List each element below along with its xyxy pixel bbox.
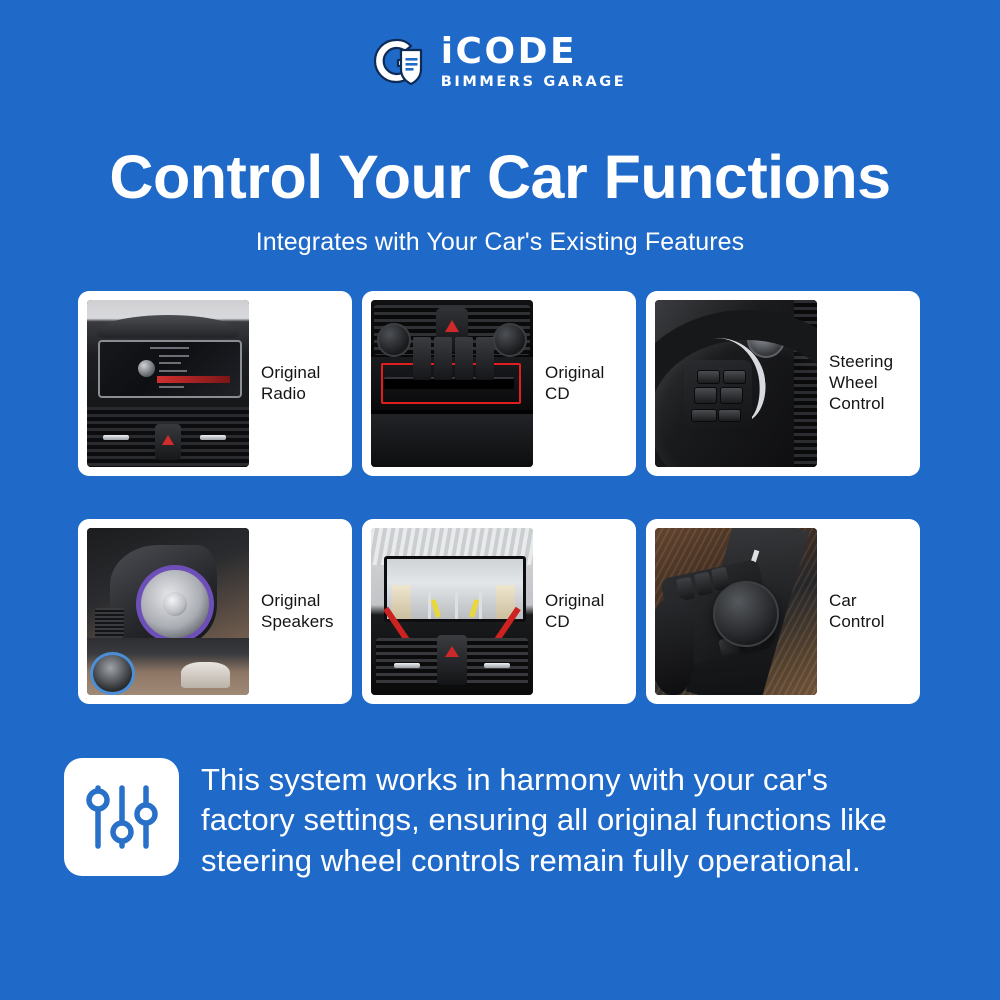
footer-description: This system works in harmony with your c… — [201, 758, 901, 881]
thumbnail-reverse-camera — [371, 528, 533, 695]
feature-card-original-radio[interactable]: Original Radio — [78, 291, 352, 476]
feature-card-original-cd-camera[interactable]: Original CD — [362, 519, 636, 704]
page-subtitle: Integrates with Your Car's Existing Feat… — [0, 228, 1000, 257]
brand-name: iCODE — [441, 34, 577, 70]
thumbnail-car-control — [655, 528, 817, 695]
feature-card-label: Original Radio — [261, 363, 343, 404]
footer-callout: This system works in harmony with your c… — [64, 758, 944, 881]
thumbnail-steering-wheel-control — [655, 300, 817, 467]
page-title: Control Your Car Functions — [0, 142, 1000, 212]
feature-card-grid: Original Radio Original CD — [78, 291, 923, 704]
brand-logo-bar: iCODE BIMMERS GARAGE — [0, 34, 1000, 90]
feature-card-label: Original CD — [545, 591, 627, 632]
thumbnail-original-radio — [87, 300, 249, 467]
sliders-equalizer-icon — [64, 758, 179, 876]
feature-card-label: Car Control — [829, 591, 911, 632]
brand-tagline: BIMMERS GARAGE — [441, 75, 627, 90]
feature-card-original-cd[interactable]: Original CD — [362, 291, 636, 476]
shield-g-logo-icon — [374, 36, 428, 88]
feature-card-label: Steering Wheel Control — [829, 352, 911, 414]
feature-card-car-control[interactable]: Car Control — [646, 519, 920, 704]
thumbnail-original-speakers — [87, 528, 249, 695]
feature-card-steering-wheel-control[interactable]: Steering Wheel Control — [646, 291, 920, 476]
thumbnail-original-cd — [371, 300, 533, 467]
feature-card-label: Original CD — [545, 363, 627, 404]
feature-card-label: Original Speakers — [261, 591, 343, 632]
feature-card-original-speakers[interactable]: Original Speakers — [78, 519, 352, 704]
